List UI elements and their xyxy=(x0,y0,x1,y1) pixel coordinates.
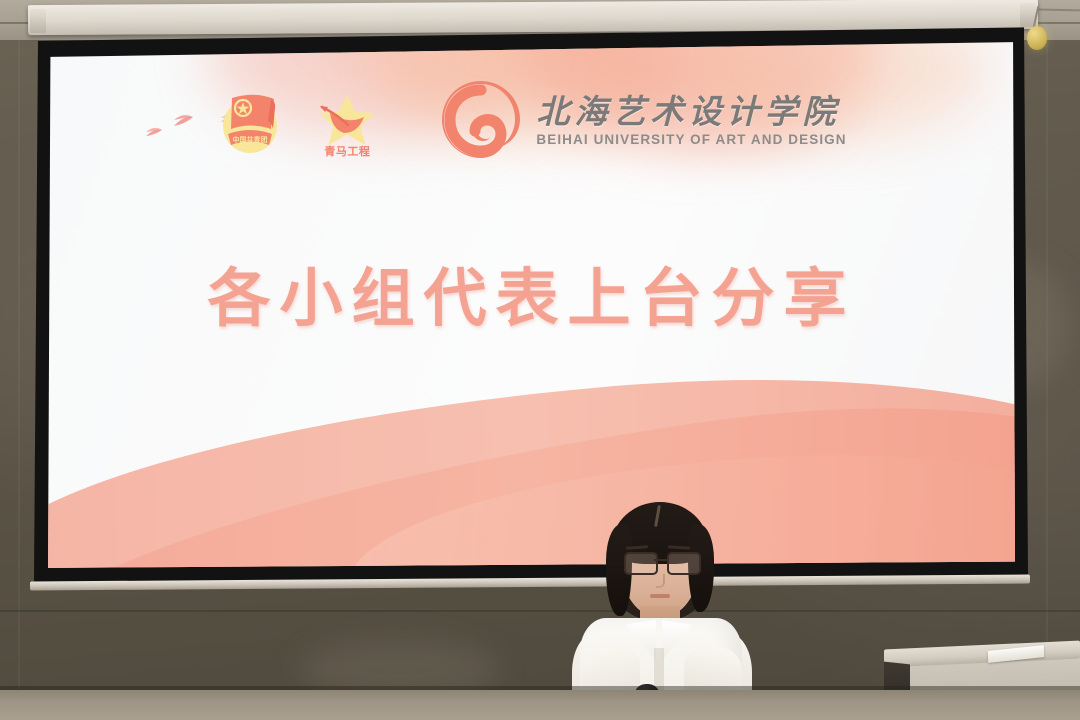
ceiling-bulb-icon xyxy=(1027,26,1047,50)
lens-left xyxy=(624,552,658,575)
qingma-label: 青马工程 xyxy=(324,147,370,158)
university-name-en: BEIHAI UNIVERSITY OF ART AND DESIGN xyxy=(536,133,846,147)
wall-seam-left xyxy=(18,30,20,720)
slide-swoosh-back xyxy=(48,354,1015,569)
eyeglasses-icon xyxy=(622,552,700,572)
projected-slide: 中国共青团 青马工程 北海艺术设计学院 xyxy=(48,40,1015,569)
glasses-bridge xyxy=(654,559,668,561)
svg-text:中国共青团: 中国共青团 xyxy=(233,135,268,144)
wall-baseboard-line xyxy=(0,610,1080,612)
university-logo-block: 北海艺术设计学院 BEIHAI UNIVERSITY OF ART AND DE… xyxy=(438,78,846,164)
housing-end-left xyxy=(30,9,46,33)
presentation-room-scene: 中国共青团 青马工程 北海艺术设计学院 xyxy=(0,0,1080,720)
slide-logo-row: 中国共青团 青马工程 北海艺术设计学院 xyxy=(48,66,1015,176)
mouth xyxy=(650,594,670,598)
qingma-project-logo: 青马工程 xyxy=(308,84,386,158)
communist-youth-league-emblem-icon: 中国共青团 xyxy=(216,84,290,158)
slide-title: 各小组代表上台分享 xyxy=(48,248,1015,339)
beihai-university-swirl-logo-icon xyxy=(438,78,524,164)
university-name-block: 北海艺术设计学院 BEIHAI UNIVERSITY OF ART AND DE… xyxy=(536,96,846,146)
university-name-cn: 北海艺术设计学院 xyxy=(536,96,846,131)
floor-band xyxy=(0,690,1080,720)
lens-right xyxy=(667,552,701,575)
qingma-star-icon xyxy=(308,93,386,145)
slide-swoosh-front xyxy=(48,335,1015,569)
wall-seam-right xyxy=(1046,40,1048,720)
